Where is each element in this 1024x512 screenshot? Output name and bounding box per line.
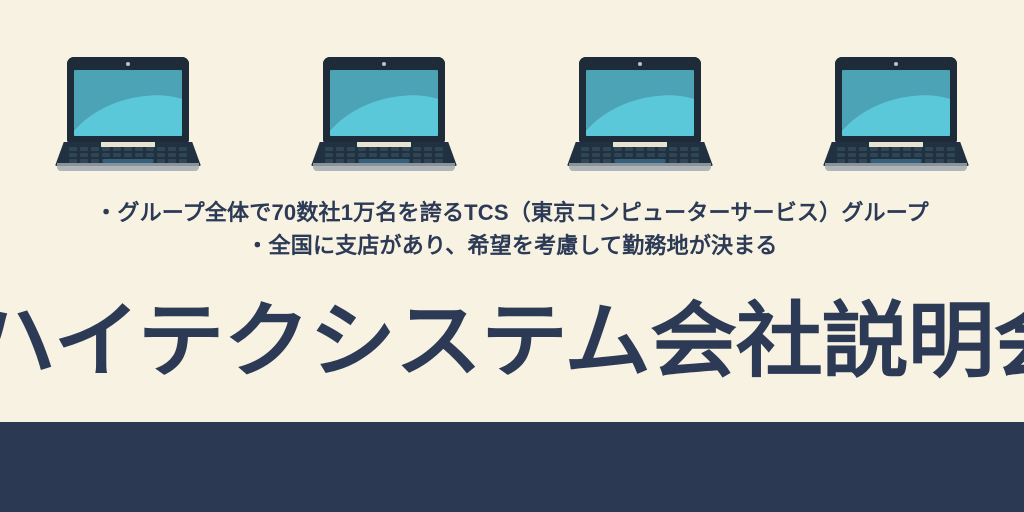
screen-wave-shape [330,92,438,136]
banner-root: ・グループ全体で70数社1万名を誇るTCS（東京コンピューターサービス）グループ… [0,0,1024,512]
bullet-item-2: ・全国に支店があり、希望を考慮して勤務地が決まる [0,229,1024,262]
laptop-lid [67,57,189,143]
bottom-bar [0,422,1024,512]
bullet-item-1: ・グループ全体で70数社1万名を誇るTCS（東京コンピューターサービス）グループ [0,196,1024,229]
bullet-list: ・グループ全体で70数社1万名を誇るTCS（東京コンピューターサービス）グループ… [0,196,1024,262]
keyboard-row [575,147,705,151]
keyboard-row [63,147,193,151]
laptop-screen [330,70,438,136]
laptop-hinge [357,142,411,147]
webcam-icon [894,62,898,66]
laptop-icon [823,57,969,172]
laptop-screen [842,70,950,136]
laptop-base-shadow [825,163,967,166]
laptop-lid [323,57,445,143]
laptop-icon [55,57,201,172]
keyboard-row [831,147,961,151]
screen-wave-shape [586,92,694,136]
page-title: ハイテクシステム会社説明会 [0,294,1024,390]
laptop-hinge [613,142,667,147]
laptop-hinge [101,142,155,147]
laptop-base-shadow [313,163,455,166]
laptop-screen [74,70,182,136]
laptop-screen [586,70,694,136]
laptop-base-shadow [57,163,199,166]
keyboard-row [319,147,449,151]
laptop-icon [311,57,457,172]
laptop-lid [579,57,701,143]
screen-wave-shape [842,92,950,136]
webcam-icon [126,62,130,66]
laptop-base-shadow [569,163,711,166]
keyboard-row [63,153,193,157]
screen-wave-shape [74,92,182,136]
laptop-icon [567,57,713,172]
laptop-hinge [869,142,923,147]
webcam-icon [382,62,386,66]
laptop-illustration-row [0,52,1024,172]
keyboard-row [319,153,449,157]
laptop-lid [835,57,957,143]
keyboard-row [831,153,961,157]
keyboard-row [575,153,705,157]
webcam-icon [638,62,642,66]
